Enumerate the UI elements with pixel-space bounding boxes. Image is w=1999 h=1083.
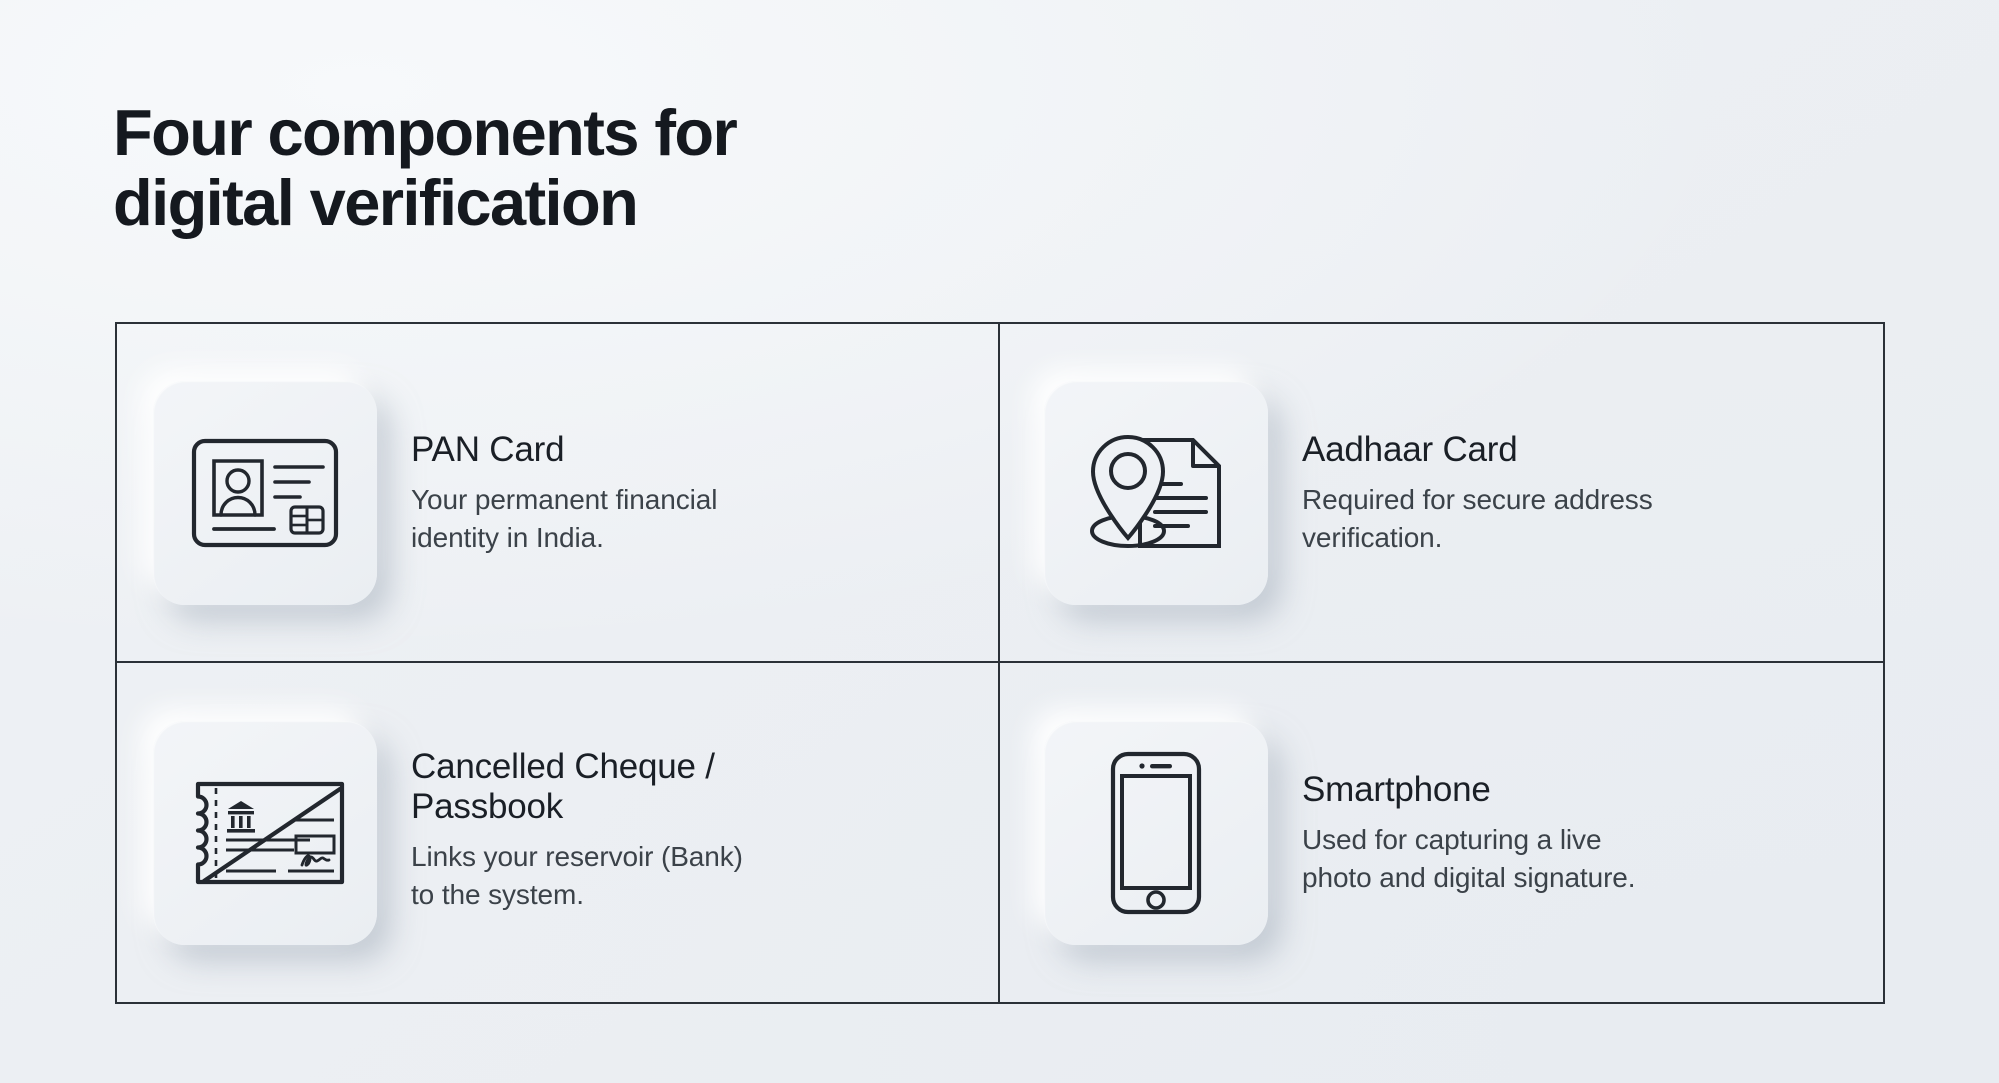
components-grid: PAN Card Your permanent financial identi… [115,322,1885,1004]
card-desc-aadhaar: Required for secure address verification… [1302,481,1857,557]
card-text-smartphone: Smartphone Used for capturing a live pho… [1302,770,1857,897]
slide-canvas: Four components for digital verification [0,0,1999,1083]
icon-tile-smartphone [1044,721,1268,945]
component-card-cheque[interactable]: Cancelled Cheque / Passbook Links your r… [117,663,1000,1002]
card-desc-line: Required for secure address [1302,481,1857,519]
page-title-line-1: Four components for [113,98,1013,168]
cancelled-cheque-icon [184,780,346,886]
card-title-line: Aadhaar Card [1302,430,1857,471]
page-title: Four components for digital verification [113,98,1013,238]
card-desc-line: verification. [1302,519,1857,557]
card-desc-line: identity in India. [411,519,972,557]
card-title-cheque: Cancelled Cheque / Passbook [411,747,972,828]
card-desc-line: Used for capturing a live [1302,821,1857,859]
page-title-line-2: digital verification [113,168,1013,238]
card-text-aadhaar: Aadhaar Card Required for secure address… [1302,430,1857,557]
card-title-pan: PAN Card [411,430,972,471]
card-title-smartphone: Smartphone [1302,770,1857,811]
card-text-cheque: Cancelled Cheque / Passbook Links your r… [411,747,972,914]
card-title-line: Cancelled Cheque / [411,747,972,788]
card-desc-line: Links your reservoir (Bank) [411,838,972,876]
card-title-line: Passbook [411,787,972,828]
card-desc-pan: Your permanent financial identity in Ind… [411,481,972,557]
card-desc-smartphone: Used for capturing a live photo and digi… [1302,821,1857,897]
card-desc-cheque: Links your reservoir (Bank) to the syste… [411,838,972,914]
bank-icon [227,801,255,833]
icon-tile-cheque [153,721,377,945]
card-text-pan: PAN Card Your permanent financial identi… [411,430,972,557]
component-card-aadhaar[interactable]: Aadhaar Card Required for secure address… [1000,324,1883,663]
card-desc-line: Your permanent financial [411,481,972,519]
component-card-smartphone[interactable]: Smartphone Used for capturing a live pho… [1000,663,1883,1002]
card-title-aadhaar: Aadhaar Card [1302,430,1857,471]
card-title-line: Smartphone [1302,770,1857,811]
icon-tile-pan [153,381,377,605]
icon-tile-aadhaar [1044,381,1268,605]
card-title-line: PAN Card [411,430,972,471]
smartphone-icon [1109,750,1203,916]
card-desc-line: photo and digital signature. [1302,859,1857,897]
location-document-icon [1083,429,1229,557]
id-card-icon [190,437,340,549]
component-card-pan[interactable]: PAN Card Your permanent financial identi… [117,324,1000,663]
card-desc-line: to the system. [411,876,972,914]
